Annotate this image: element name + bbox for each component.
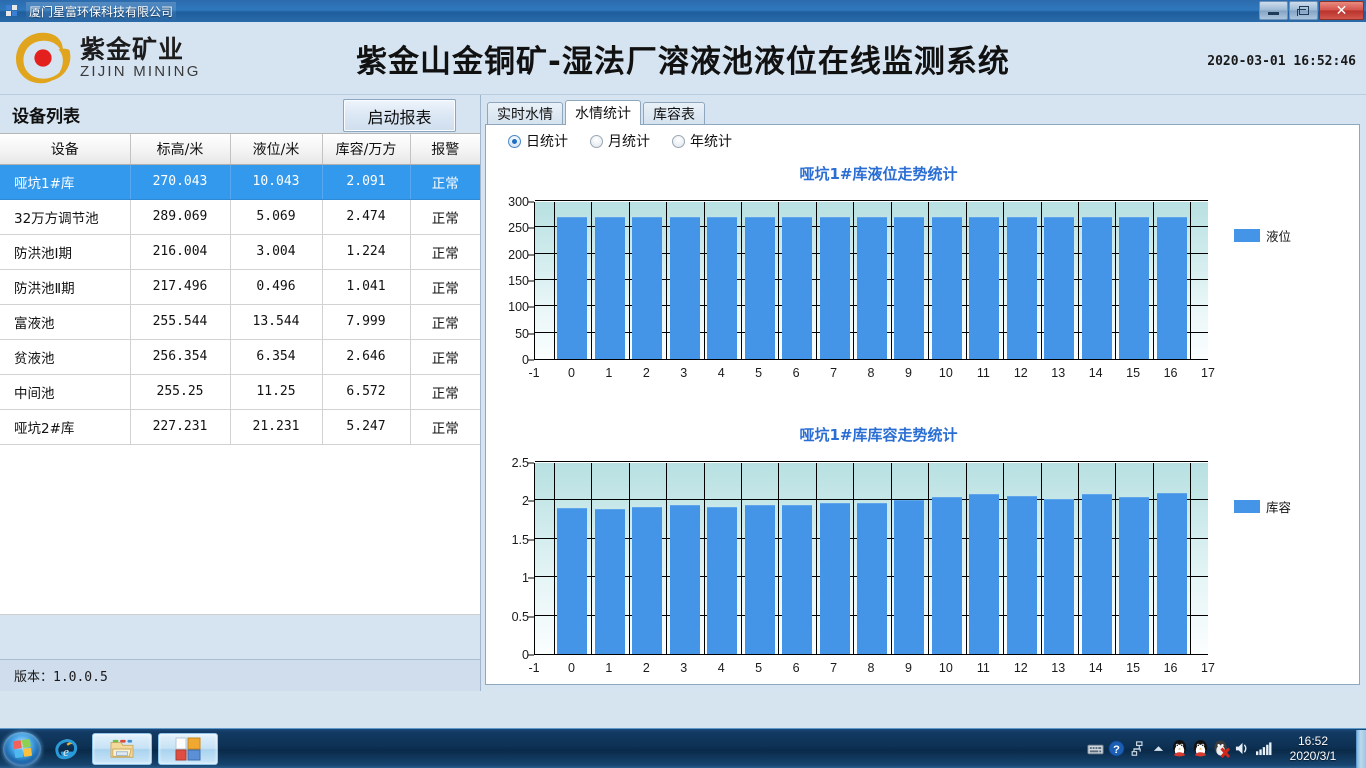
gridline-v: [1003, 463, 1004, 655]
header-datetime: 2020-03-01 16:52:46: [1207, 54, 1356, 69]
chart-legend-1: 库容: [1234, 497, 1291, 516]
gridline-v: [741, 202, 742, 360]
gridline-v: [1153, 202, 1154, 360]
cell-alarm: 正常: [410, 374, 480, 409]
device-table-empty-area: [0, 445, 480, 615]
bar: [745, 505, 775, 654]
y-tick-mark: [528, 202, 534, 203]
gridline-v: [666, 202, 667, 360]
bar: [857, 217, 887, 359]
table-row[interactable]: 32万方调节池289.0695.0692.474正常: [0, 199, 480, 234]
bar: [632, 217, 662, 359]
gridline-v: [853, 463, 854, 655]
x-tick-label: 14: [1089, 661, 1103, 675]
x-tick-label: 1: [605, 661, 612, 675]
gridline-v: [741, 463, 742, 655]
windows-taskbar: e ?: [0, 728, 1366, 768]
gridline-v: [1190, 202, 1191, 360]
y-tick-mark: [528, 463, 534, 464]
radio-label: 年统计: [690, 131, 732, 151]
x-tick-label: 5: [755, 661, 762, 675]
gridline-v: [891, 463, 892, 655]
gridline-v: [928, 202, 929, 360]
x-tick-label: -1: [528, 366, 539, 380]
x-tick-label: 10: [939, 661, 953, 675]
tab-0[interactable]: 实时水情: [487, 102, 563, 124]
bar: [1082, 494, 1112, 655]
bar: [1119, 217, 1149, 359]
chart-legend-0: 液位: [1234, 226, 1291, 245]
bar: [894, 500, 924, 654]
legend-label: 液位: [1266, 226, 1291, 245]
qq-icon[interactable]: [1169, 737, 1190, 761]
cell-name: 防洪池Ⅱ期: [0, 269, 130, 304]
minimize-icon: [1268, 12, 1279, 15]
device-table-col-1[interactable]: 标高/米: [130, 134, 230, 164]
tab-1[interactable]: 水情统计: [565, 100, 641, 125]
table-row[interactable]: 哑坑2#库227.23121.2315.247正常: [0, 409, 480, 444]
period-radio-group[interactable]: 日统计月统计年统计: [486, 125, 1359, 157]
device-table-col-0[interactable]: 设备: [0, 134, 130, 164]
bar: [932, 497, 962, 654]
bar: [894, 217, 924, 359]
x-tick-label: 13: [1051, 661, 1065, 675]
version-label: 版本：1.0.0.5: [14, 666, 108, 685]
cell-alarm: 正常: [410, 199, 480, 234]
cell-num: 7.999: [322, 304, 410, 339]
gridline-v: [591, 202, 592, 360]
y-tick-label: 1.5: [512, 533, 529, 547]
charts-host: 哑坑1#库液位走势统计050100150200250300-1012345678…: [486, 163, 1359, 685]
qq-offline-icon[interactable]: [1211, 737, 1232, 761]
brand-name-cn: 紫金矿业: [80, 36, 201, 63]
cell-alarm: 正常: [410, 409, 480, 444]
system-tray: ? 16:52 2020/3/1: [1085, 729, 1366, 768]
close-icon: ✕: [1336, 4, 1348, 18]
cell-name: 哑坑1#库: [0, 164, 130, 199]
qq-icon[interactable]: [1190, 737, 1211, 761]
bar: [1007, 217, 1037, 359]
chart-title-0: 哑坑1#库液位走势统计: [485, 163, 1359, 184]
cell-num: 6.354: [230, 339, 322, 374]
y-tick-mark: [528, 578, 534, 579]
x-tick-label: 11: [977, 661, 990, 675]
radio-2[interactable]: 年统计: [672, 131, 732, 151]
radio-1[interactable]: 月统计: [590, 131, 650, 151]
legend-swatch: [1234, 500, 1260, 513]
gridline-v: [816, 202, 817, 360]
start-report-button[interactable]: 启动报表: [343, 99, 456, 132]
monitoring-app-button[interactable]: [158, 733, 218, 765]
legend-label: 库容: [1266, 497, 1291, 516]
gridline-v: [928, 463, 929, 655]
y-tick-mark: [528, 281, 534, 282]
bar: [670, 505, 700, 654]
radio-label: 日统计: [526, 131, 568, 151]
y-tick-mark: [528, 228, 534, 229]
table-row[interactable]: 贫液池256.3546.3542.646正常: [0, 339, 480, 374]
close-button[interactable]: ✕: [1319, 1, 1364, 20]
bar: [595, 217, 625, 359]
gridline-v: [1041, 202, 1042, 360]
show-hidden-icons-icon[interactable]: [1148, 737, 1169, 761]
plot-0: [534, 202, 1208, 360]
bar: [857, 503, 887, 654]
svg-text:e: e: [63, 744, 69, 759]
taskbar-clock[interactable]: 16:52 2020/3/1: [1274, 734, 1352, 764]
y-tick-label: 300: [508, 195, 529, 209]
cell-alarm: 正常: [410, 339, 480, 374]
cell-alarm: 正常: [410, 304, 480, 339]
x-tick-label: 7: [830, 366, 837, 380]
brand-name-en: ZIJIN MINING: [80, 63, 201, 80]
legend-swatch: [1234, 229, 1260, 242]
gridline-h: [535, 200, 1208, 201]
gridline-v: [591, 463, 592, 655]
bar: [932, 217, 962, 359]
x-tick-label: 9: [905, 366, 912, 380]
gridline-v: [1115, 463, 1116, 655]
x-tick-label: 3: [680, 366, 687, 380]
gridline-v: [1003, 202, 1004, 360]
folder-icon: [109, 738, 135, 760]
device-list-header: 设备列表 启动报表: [0, 95, 480, 133]
x-tick-label: 9: [905, 661, 912, 675]
internet-explorer-button[interactable]: e: [46, 731, 86, 767]
chart-plot-area-0: 050100150200250300-101234567891011121314…: [486, 202, 1220, 402]
table-row[interactable]: 防洪池Ⅰ期216.0043.0041.224正常: [0, 234, 480, 269]
x-tick-label: 2: [643, 366, 650, 380]
page-title: 紫金山金铜矿-湿法厂溶液池液位在线监测系统: [0, 36, 1366, 81]
cell-num: 0.496: [230, 269, 322, 304]
y-tick-label: 2.5: [512, 456, 529, 470]
bar: [782, 505, 812, 654]
ime-keyboard-icon[interactable]: [1085, 737, 1106, 761]
chart-body-0: 050100150200250300-101234567891011121314…: [486, 184, 1359, 402]
y-tick-label: 200: [508, 248, 529, 262]
cell-num: 2.646: [322, 339, 410, 374]
windows-explorer-button[interactable]: [92, 733, 152, 765]
bar: [632, 507, 662, 654]
x-tick-label: 12: [1014, 661, 1028, 675]
cell-num: 2.091: [322, 164, 410, 199]
device-table-body[interactable]: 哑坑1#库270.04310.0432.091正常32万方调节池289.0695…: [0, 164, 480, 444]
x-tick-label: 13: [1051, 366, 1065, 380]
cell-num: 21.231: [230, 409, 322, 444]
y-tick-mark: [528, 616, 534, 617]
cell-num: 256.354: [130, 339, 230, 374]
device-table-col-3[interactable]: 库容/万方: [322, 134, 410, 164]
x-tick-label: 4: [718, 661, 725, 675]
app-header: 紫金矿业 ZIJIN MINING 紫金山金铜矿-湿法厂溶液池液位在线监测系统 …: [0, 22, 1366, 95]
gridline-h: [535, 461, 1208, 462]
chart-plot-area-1: 00.511.522.5-101234567891011121314151617: [486, 463, 1220, 685]
y-tick-mark: [528, 539, 534, 540]
gridline-v: [666, 463, 667, 655]
device-table-col-2[interactable]: 液位/米: [230, 134, 322, 164]
tab-2[interactable]: 库容表: [643, 102, 705, 124]
gridline-v: [778, 202, 779, 360]
x-tick-label: 2: [643, 661, 650, 675]
bar: [820, 217, 850, 359]
cell-name: 中间池: [0, 374, 130, 409]
radio-label: 月统计: [608, 131, 650, 151]
gridline-v: [629, 463, 630, 655]
restore-icon: [1299, 6, 1309, 15]
y-tick-label: 100: [508, 300, 529, 314]
y-tick-mark: [528, 655, 534, 656]
gridline-v: [554, 202, 555, 360]
brand-logo: 紫金矿业 ZIJIN MINING: [14, 31, 201, 85]
bar: [1044, 217, 1074, 359]
gridline-v: [1041, 463, 1042, 655]
chart-0: 哑坑1#库液位走势统计050100150200250300-1012345678…: [486, 163, 1359, 402]
x-tick-label: 8: [868, 661, 875, 675]
x-tick-label: 12: [1014, 366, 1028, 380]
cell-num: 5.247: [322, 409, 410, 444]
bar: [1157, 493, 1187, 654]
restore-button[interactable]: [1289, 1, 1318, 20]
bar: [1044, 499, 1074, 654]
bar: [1119, 497, 1149, 654]
x-tick-label: 7: [830, 661, 837, 675]
svg-text:?: ?: [1113, 744, 1120, 756]
bar: [1157, 217, 1187, 359]
x-tick-label: 0: [568, 661, 575, 675]
device-table-col-4[interactable]: 报警: [410, 134, 480, 164]
cell-num: 255.25: [130, 374, 230, 409]
y-axis-1: 00.511.522.5: [486, 463, 534, 655]
bar: [557, 508, 587, 654]
app-window-icon: [6, 4, 20, 18]
app-tiles-icon: [175, 737, 201, 761]
gridline-v: [966, 202, 967, 360]
tab-container: 实时水情水情统计库容表 日统计月统计年统计 哑坑1#库液位走势统计0501001…: [485, 99, 1360, 685]
x-tick-label: 6: [793, 661, 800, 675]
radio-0[interactable]: 日统计: [508, 131, 568, 151]
device-list-title: 设备列表: [12, 102, 80, 127]
y-tick-mark: [528, 254, 534, 255]
x-tick-label: 15: [1126, 366, 1140, 380]
x-tick-label: 10: [939, 366, 953, 380]
bar: [1007, 496, 1037, 654]
y-axis-0: 050100150200250300: [486, 202, 534, 360]
x-tick-label: 14: [1089, 366, 1103, 380]
chart-1: 哑坑1#库库容走势统计00.511.522.5-1012345678910111…: [486, 424, 1359, 685]
cell-name: 防洪池Ⅰ期: [0, 234, 130, 269]
device-list-panel: 设备列表 启动报表 设备标高/米液位/米库容/万方报警 哑坑1#库270.043…: [0, 95, 481, 691]
x-tick-label: 11: [977, 366, 990, 380]
y-tick-mark: [528, 360, 534, 361]
show-desktop-button[interactable]: [1356, 730, 1366, 768]
signal-icon[interactable]: [1253, 737, 1274, 761]
x-tick-label: 6: [793, 366, 800, 380]
cell-num: 1.224: [322, 234, 410, 269]
cell-num: 1.041: [322, 269, 410, 304]
help-icon[interactable]: ?: [1106, 737, 1127, 761]
bar: [745, 217, 775, 359]
cell-alarm: 正常: [410, 164, 480, 199]
bar: [969, 494, 999, 654]
bar: [782, 217, 812, 359]
status-bar: 版本：1.0.0.5: [0, 659, 480, 691]
y-tick-mark: [528, 333, 534, 334]
x-tick-label: 16: [1164, 661, 1178, 675]
volume-icon[interactable]: [1232, 737, 1253, 761]
main-content: 设备列表 启动报表 设备标高/米液位/米库容/万方报警 哑坑1#库270.043…: [0, 95, 1366, 691]
table-row[interactable]: 富液池255.54413.5447.999正常: [0, 304, 480, 339]
gridline-v: [1153, 463, 1154, 655]
gridline-v: [778, 463, 779, 655]
cell-alarm: 正常: [410, 269, 480, 304]
bar: [557, 217, 587, 359]
window-title: 厦门星富环保科技有限公司: [26, 2, 176, 21]
clock-date: 2020/3/1: [1274, 749, 1352, 764]
device-table-wrap: 设备标高/米液位/米库容/万方报警 哑坑1#库270.04310.0432.09…: [0, 133, 480, 615]
window-controls: ✕: [1259, 1, 1364, 20]
table-row[interactable]: 中间池255.2511.256.572正常: [0, 374, 480, 409]
cell-name: 32万方调节池: [0, 199, 130, 234]
zijin-logo-icon: [14, 31, 72, 85]
gridline-v: [704, 202, 705, 360]
clock-time: 16:52: [1274, 734, 1352, 749]
cell-num: 3.004: [230, 234, 322, 269]
gridline-v: [816, 463, 817, 655]
tab-strip[interactable]: 实时水情水情统计库容表: [485, 99, 1360, 124]
minimize-button[interactable]: [1259, 1, 1288, 20]
cell-name: 贫液池: [0, 339, 130, 374]
plot-1: [534, 463, 1208, 655]
gridline-v: [966, 463, 967, 655]
chart-body-1: 00.511.522.5-101234567891011121314151617…: [486, 445, 1359, 685]
y-tick-label: 0.5: [512, 610, 529, 624]
cell-num: 227.231: [130, 409, 230, 444]
cell-name: 哑坑2#库: [0, 409, 130, 444]
cell-num: 289.069: [130, 199, 230, 234]
gridline-v: [853, 202, 854, 360]
cell-num: 5.069: [230, 199, 322, 234]
bar: [670, 217, 700, 359]
gridline-v: [1115, 202, 1116, 360]
gridline-v: [891, 202, 892, 360]
network-icon[interactable]: [1127, 737, 1148, 761]
cell-num: 6.572: [322, 374, 410, 409]
bar: [707, 217, 737, 359]
x-tick-label: 0: [568, 366, 575, 380]
y-tick-label: 250: [508, 221, 529, 235]
tab-page-water-statistics: 日统计月统计年统计 哑坑1#库液位走势统计050100150200250300-…: [485, 124, 1360, 685]
y-tick-mark: [528, 307, 534, 308]
window-title-bar[interactable]: 厦门星富环保科技有限公司 ✕: [0, 0, 1366, 22]
radio-dot-icon: [508, 135, 521, 148]
cell-alarm: 正常: [410, 234, 480, 269]
x-tick-label: 4: [718, 366, 725, 380]
table-row[interactable]: 防洪池Ⅱ期217.4960.4961.041正常: [0, 269, 480, 304]
brand-text: 紫金矿业 ZIJIN MINING: [80, 36, 201, 80]
windows-logo-icon: [12, 739, 31, 758]
start-button[interactable]: [3, 732, 41, 766]
statistics-panel: 实时水情水情统计库容表 日统计月统计年统计 哑坑1#库液位走势统计0501001…: [481, 95, 1366, 691]
bar: [969, 217, 999, 359]
x-tick-label: 5: [755, 366, 762, 380]
cell-num: 11.25: [230, 374, 322, 409]
chart-title-1: 哑坑1#库库容走势统计: [485, 424, 1359, 445]
gridline-v: [1078, 463, 1079, 655]
x-tick-label: 16: [1164, 366, 1178, 380]
x-tick-label: 8: [868, 366, 875, 380]
gridline-v: [704, 463, 705, 655]
gridline-v: [1078, 202, 1079, 360]
cell-num: 217.496: [130, 269, 230, 304]
device-table[interactable]: 设备标高/米液位/米库容/万方报警 哑坑1#库270.04310.0432.09…: [0, 134, 480, 445]
x-tick-label: 15: [1126, 661, 1140, 675]
bar: [820, 503, 850, 654]
gridline-v: [554, 463, 555, 655]
cell-num: 2.474: [322, 199, 410, 234]
gridline-v: [629, 202, 630, 360]
x-tick-label: 17: [1201, 661, 1215, 675]
bar: [707, 507, 737, 654]
bar: [595, 509, 625, 654]
device-table-header-row: 设备标高/米液位/米库容/万方报警: [0, 134, 480, 164]
radio-dot-icon: [590, 135, 603, 148]
x-tick-label: -1: [528, 661, 539, 675]
gridline-v: [1190, 463, 1191, 655]
table-row[interactable]: 哑坑1#库270.04310.0432.091正常: [0, 164, 480, 199]
cell-num: 13.544: [230, 304, 322, 339]
bar: [1082, 217, 1112, 359]
cell-num: 270.043: [130, 164, 230, 199]
cell-num: 216.004: [130, 234, 230, 269]
y-tick-label: 50: [515, 327, 529, 341]
y-tick-mark: [528, 501, 534, 502]
cell-num: 10.043: [230, 164, 322, 199]
x-tick-label: 3: [680, 661, 687, 675]
radio-dot-icon: [672, 135, 685, 148]
internet-explorer-icon: e: [52, 735, 80, 763]
y-tick-label: 150: [508, 274, 529, 288]
cell-num: 255.544: [130, 304, 230, 339]
cell-name: 富液池: [0, 304, 130, 339]
x-tick-label: 17: [1201, 366, 1215, 380]
x-tick-label: 1: [605, 366, 612, 380]
